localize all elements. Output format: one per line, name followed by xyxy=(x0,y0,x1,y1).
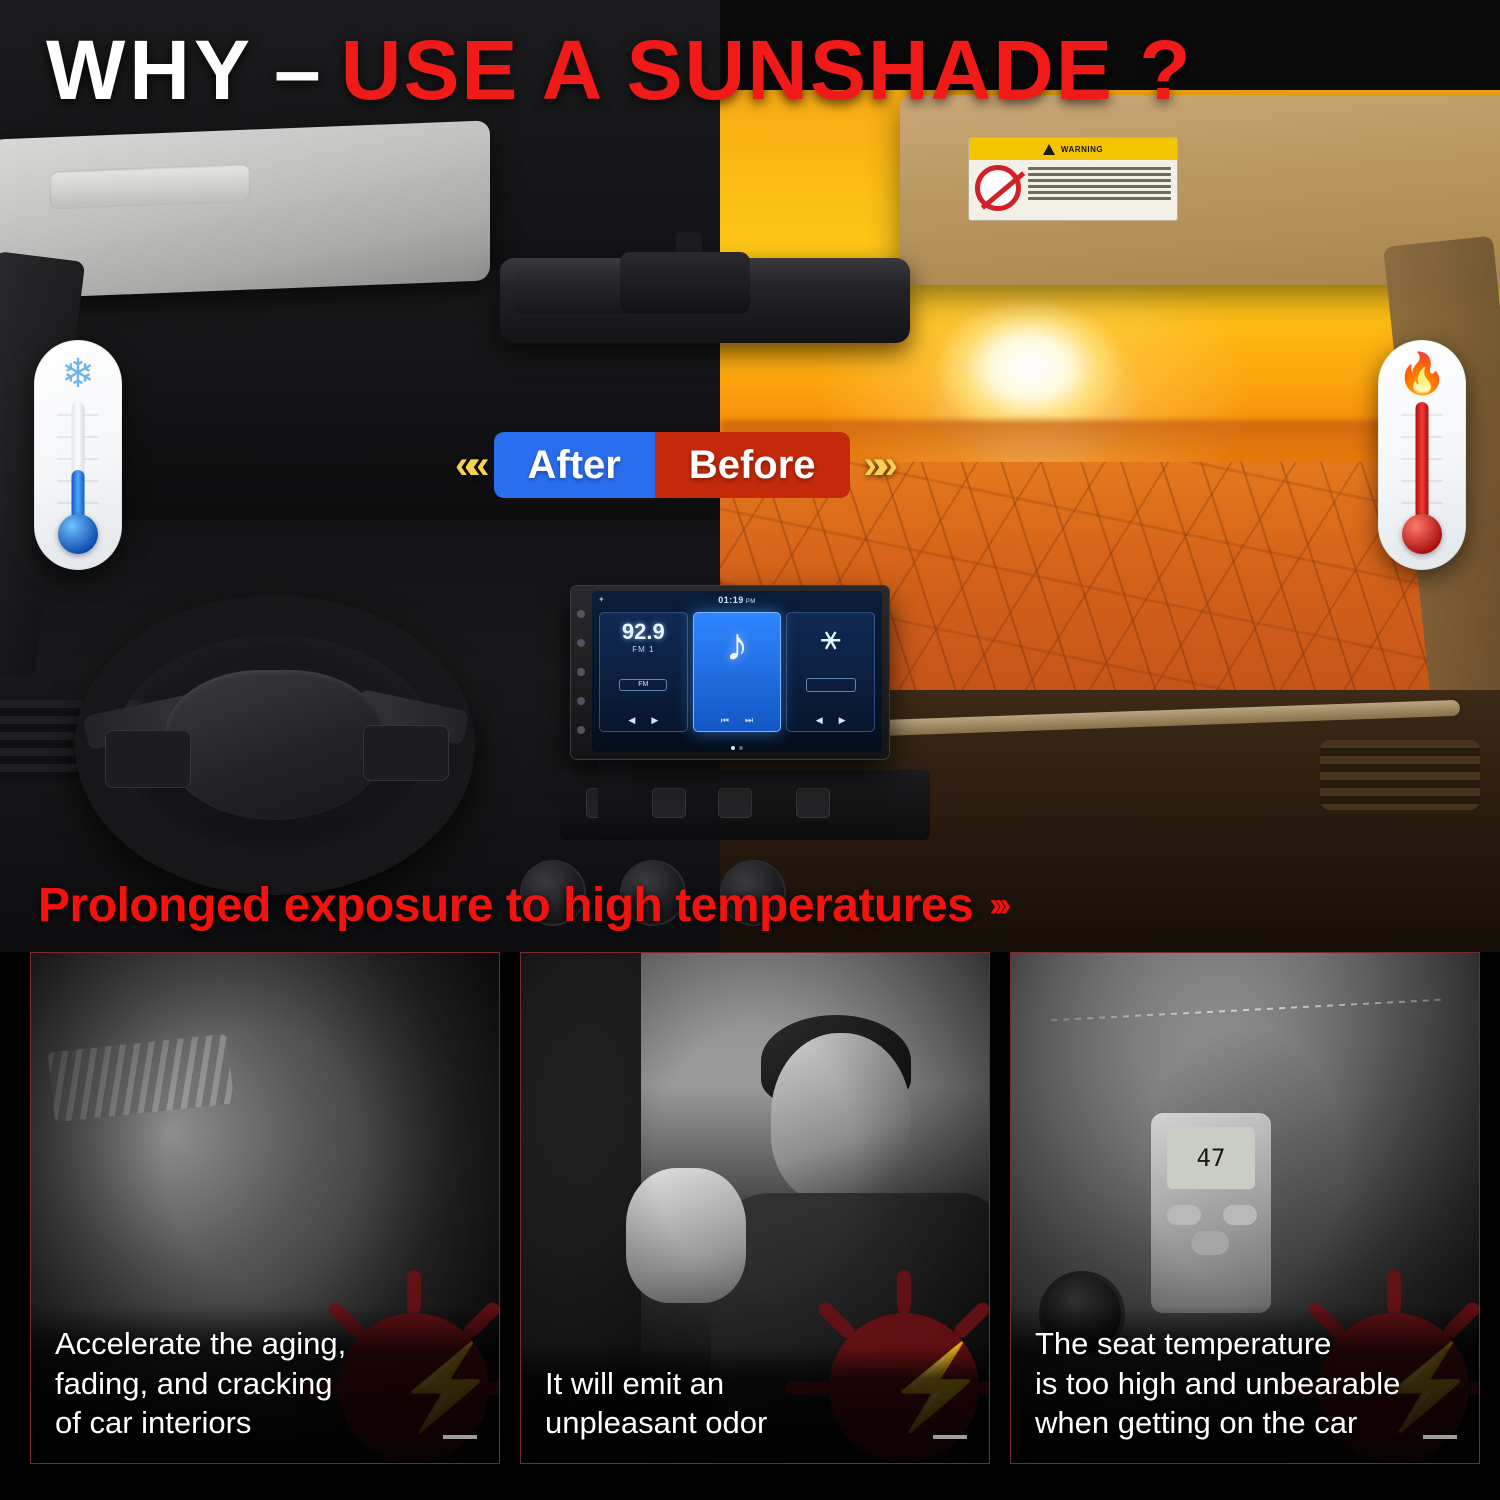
infotainment-cards: 92.9 FM 1 FM ◀ ▶ ♪ ⏮ ⏭ xyxy=(592,608,882,732)
warning-label-title: WARNING xyxy=(1061,145,1103,154)
after-badge[interactable]: After xyxy=(494,432,655,498)
hero-comparison-scene: WARNING xyxy=(0,0,1500,952)
title-use-a-sunshade: USE A SUNSHADE ? xyxy=(341,28,1193,112)
man-head xyxy=(771,1033,911,1203)
bluetooth-icon: ✦ xyxy=(598,595,605,604)
radio-prev-button[interactable]: ◀ xyxy=(628,715,635,726)
console-button-3[interactable] xyxy=(718,788,752,818)
title-dash: – xyxy=(274,28,321,112)
steering-buttons-right xyxy=(363,725,449,781)
warning-triangle-icon xyxy=(1043,144,1055,155)
side-button-power[interactable] xyxy=(577,610,585,618)
gun-button-left xyxy=(1167,1205,1201,1225)
caption-line-2: unpleasant odor xyxy=(545,1403,969,1443)
seat-prev-button[interactable]: ◀ xyxy=(816,715,823,726)
seat-stitching xyxy=(1051,999,1441,1021)
infotainment-side-buttons[interactable] xyxy=(574,599,588,745)
clock-display: 01:19PM xyxy=(718,595,756,605)
warning-label-text-lines xyxy=(1028,165,1171,211)
caption-underscore xyxy=(1423,1435,1457,1439)
page-title: WHY – USE A SUNSHADE ? xyxy=(0,28,1500,112)
panel-aging-interiors: ⚡ Accelerate the aging, fading, and crac… xyxy=(30,952,500,1464)
title-why: WHY xyxy=(46,28,254,112)
thermometer-fill-hot xyxy=(1416,402,1429,520)
media-card[interactable]: ♪ ⏮ ⏭ xyxy=(693,612,782,732)
panel-caption: Accelerate the aging, fading, and cracki… xyxy=(31,1306,499,1463)
thermometer-hot: 🔥 xyxy=(1378,340,1466,570)
before-badge[interactable]: Before xyxy=(655,432,850,498)
screen-mount xyxy=(598,758,632,836)
seat-icon xyxy=(806,678,856,692)
subheadline-chevrons-icon: ››› xyxy=(989,886,1005,925)
gun-button-center xyxy=(1191,1231,1229,1255)
caption-line-1: It will emit an xyxy=(545,1364,969,1404)
gun-button-right xyxy=(1223,1205,1257,1225)
steering-buttons-left xyxy=(105,730,191,788)
man-hand xyxy=(626,1168,746,1303)
no-rear-facing-child-seat-icon xyxy=(975,165,1021,211)
chevron-left-icon: «« xyxy=(455,443,494,488)
caption-line-1: The seat temperature xyxy=(1035,1324,1459,1364)
caption-line-2: fading, and cracking xyxy=(55,1364,479,1404)
infotainment-screen[interactable]: ✦ 01:19PM 92.9 FM 1 FM ◀ ▶ xyxy=(570,585,890,760)
caption-underscore xyxy=(933,1435,967,1439)
infographic-page: WARNING xyxy=(0,0,1500,1500)
seat-controls[interactable]: ◀ ▶ xyxy=(816,715,846,726)
side-button-settings[interactable] xyxy=(577,697,585,705)
infotainment-display: ✦ 01:19PM 92.9 FM 1 FM ◀ ▶ xyxy=(592,591,882,752)
seat-next-button[interactable]: ▶ xyxy=(839,715,846,726)
side-button-media[interactable] xyxy=(577,668,585,676)
radio-readout: 92.9 FM 1 xyxy=(622,621,665,654)
radio-frequency: 92.9 xyxy=(622,621,665,643)
rearview-mirror xyxy=(500,258,910,343)
panel-unpleasant-odor: ⚡ It will emit an unpleasant odor xyxy=(520,952,990,1464)
thermometer-bulb-hot xyxy=(1402,514,1442,554)
before-after-toggle[interactable]: «« After Before »» xyxy=(455,432,888,498)
caption-line-3: of car interiors xyxy=(55,1403,479,1443)
panel-caption: The seat temperature is too high and unb… xyxy=(1011,1306,1479,1463)
page-indicator-dots[interactable] xyxy=(731,746,743,750)
flame-icon: 🔥 xyxy=(1397,354,1447,394)
console-hazard-button[interactable] xyxy=(652,788,686,818)
warning-label-header: WARNING xyxy=(969,138,1177,160)
caption-line-2: is too high and unbearable xyxy=(1035,1364,1459,1404)
clock-meridiem: PM xyxy=(746,599,756,605)
radio-band: FM 1 xyxy=(622,645,665,654)
thermometer-reading: 47 xyxy=(1167,1127,1255,1189)
subheadline: Prolonged exposure to high temperatures … xyxy=(38,878,1005,933)
thermometer-bulb-cold xyxy=(58,514,98,554)
panel-hot-seat-temperature: 47 ⚡ The seat temperature is too hig xyxy=(1010,952,1480,1464)
infotainment-statusbar: ✦ 01:19PM xyxy=(592,591,882,608)
side-button-home[interactable] xyxy=(577,639,585,647)
subheadline-text: Prolonged exposure to high temperatures xyxy=(38,878,973,933)
thermometer-cold: ❄ xyxy=(34,340,122,570)
person-icon: ⚹ xyxy=(820,621,840,655)
sun-disc-icon xyxy=(935,295,1125,440)
clock-time: 01:19 xyxy=(718,595,744,605)
radio-card[interactable]: 92.9 FM 1 FM ◀ ▶ xyxy=(599,612,688,732)
air-vent-right xyxy=(1320,740,1480,810)
media-controls[interactable]: ⏮ ⏭ xyxy=(721,715,753,726)
steering-wheel xyxy=(75,595,475,895)
side-button-volume[interactable] xyxy=(577,726,585,734)
console-button-4[interactable] xyxy=(796,788,830,818)
consequences-panels: ⚡ Accelerate the aging, fading, and crac… xyxy=(0,952,1500,1500)
thermometer-tube-cold xyxy=(72,402,85,520)
seat-climate-card[interactable]: ⚹ ◀ ▶ xyxy=(786,612,875,732)
infrared-thermometer-gun: 47 xyxy=(1151,1113,1271,1313)
chevron-right-icon: »» xyxy=(850,443,889,488)
panel-caption: It will emit an unpleasant odor xyxy=(521,1346,989,1463)
thermometer-tube-hot xyxy=(1416,402,1429,520)
radio-source-pill[interactable]: FM xyxy=(619,679,667,691)
snowflake-icon: ❄ xyxy=(61,354,95,394)
airbag-hub xyxy=(165,670,385,820)
caption-underscore xyxy=(443,1435,477,1439)
music-note-icon: ♪ xyxy=(726,621,749,667)
caption-line-1: Accelerate the aging, xyxy=(55,1324,479,1364)
mirror-camera-housing xyxy=(620,252,750,314)
warning-label-body xyxy=(969,160,1177,216)
caption-line-3: when getting on the car xyxy=(1035,1403,1459,1443)
visor-warning-label: WARNING xyxy=(968,137,1178,221)
radio-controls[interactable]: ◀ ▶ xyxy=(628,715,658,726)
media-next-button[interactable]: ⏭ xyxy=(745,715,753,726)
radio-next-button[interactable]: ▶ xyxy=(651,715,658,726)
thermometer-fill-cold xyxy=(72,470,85,520)
media-prev-button[interactable]: ⏮ xyxy=(721,715,729,726)
